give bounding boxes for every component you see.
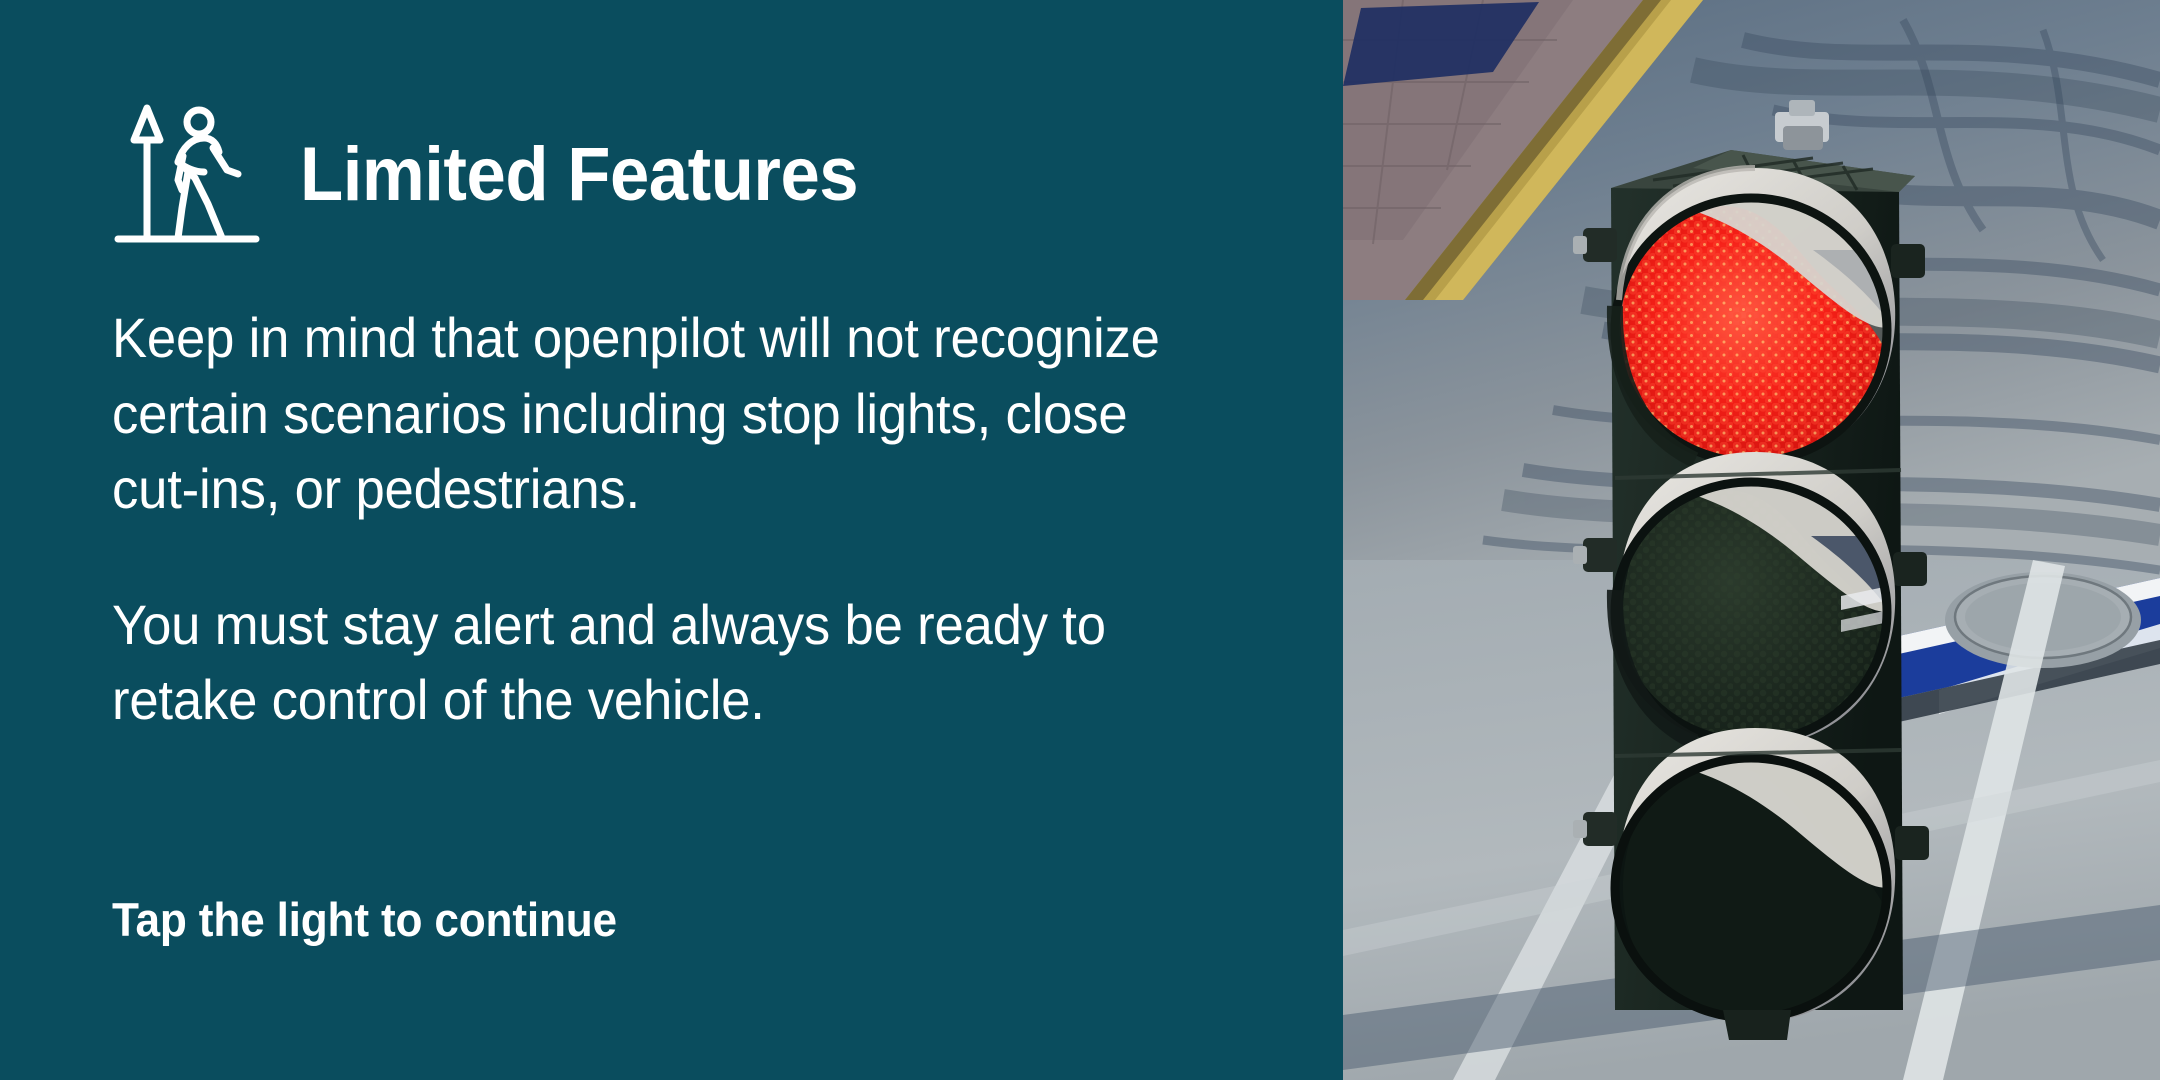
traffic-light-scene[interactable]	[1343, 0, 2160, 1080]
traffic-light-housing[interactable]	[1573, 100, 1929, 1040]
info-panel: Limited Features Keep in mind that openp…	[0, 0, 1343, 1080]
traffic-light-photo[interactable]	[1343, 0, 2160, 1080]
header-row: Limited Features	[112, 96, 900, 254]
pedestrian-crossing-icon	[112, 96, 262, 254]
body-paragraph-2: You must stay alert and always be ready …	[112, 587, 1202, 738]
tap-to-continue-hint: Tap the light to continue	[112, 892, 617, 947]
housing-bottom-tab	[1723, 1010, 1791, 1040]
body-copy: Keep in mind that openpilot will not rec…	[112, 300, 1292, 738]
page-title: Limited Features	[300, 137, 858, 213]
body-paragraph-1: Keep in mind that openpilot will not rec…	[112, 300, 1202, 527]
limited-features-screen: Limited Features Keep in mind that openp…	[0, 0, 2160, 1080]
